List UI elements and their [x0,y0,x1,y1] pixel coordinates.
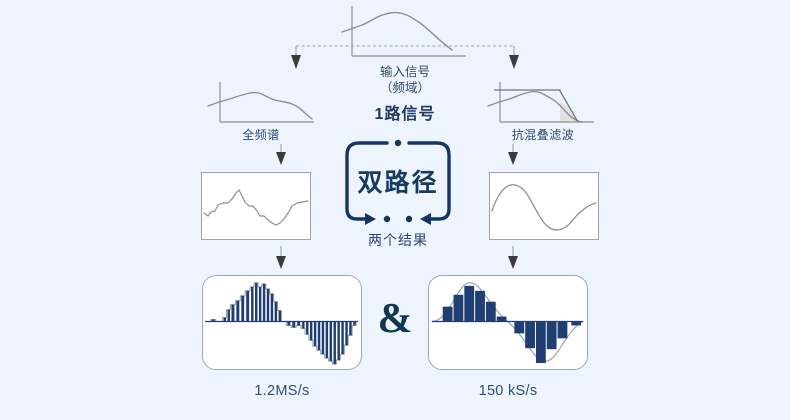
high-rate-positive-bars [212,283,281,322]
arrow-right-to-mid-svg [506,144,520,166]
full-spectrum-svg [206,80,318,128]
high-rate-bars-svg [203,276,360,368]
arrow-right-to-bottom-svg [506,246,520,270]
high-rate-negative-bars [287,322,355,365]
arrow-left-to-mid-svg [274,144,288,166]
dual-path-badge-label: 双路径 [343,168,453,198]
low-rate-negative-bars [514,322,581,364]
anti-alias-filter-svg [486,80,598,128]
arrow-left-to-bottom-svg [274,246,288,270]
branch-connector-svg [280,36,530,76]
high-rate-label: 1.2MS/s [202,383,362,399]
arrow-right-to-mid [506,144,520,166]
low-rate-bars-svg [429,276,586,368]
sine-waveform-svg [490,173,598,239]
channel-count-label: 1路信号 [330,100,480,124]
low-rate-label: 150 kS/s [428,383,588,399]
low-rate-result-box [428,275,588,370]
arrow-left-to-bottom [274,246,288,270]
diagram-canvas: 输入信号 （频域） 1路信号 全频谱 [0,0,790,420]
anti-alias-filter-plot [486,80,598,128]
high-rate-result-box [202,275,362,370]
two-results-label: 两个结果 [333,230,463,250]
anti-alias-filter-caption: 抗混叠滤波 [478,128,608,143]
noise-waveform-svg [202,173,310,239]
full-spectrum-plot [206,80,318,128]
arrow-left-to-mid [274,144,288,166]
branch-connector [280,36,530,76]
full-spectrum-caption: 全频谱 [196,128,326,143]
arrow-right-to-bottom [506,246,520,270]
noise-waveform-plot [201,172,311,240]
sine-waveform-plot [489,172,599,240]
input-signal-caption-line2: （频域） [330,80,480,96]
ampersand-separator: & [375,298,415,340]
